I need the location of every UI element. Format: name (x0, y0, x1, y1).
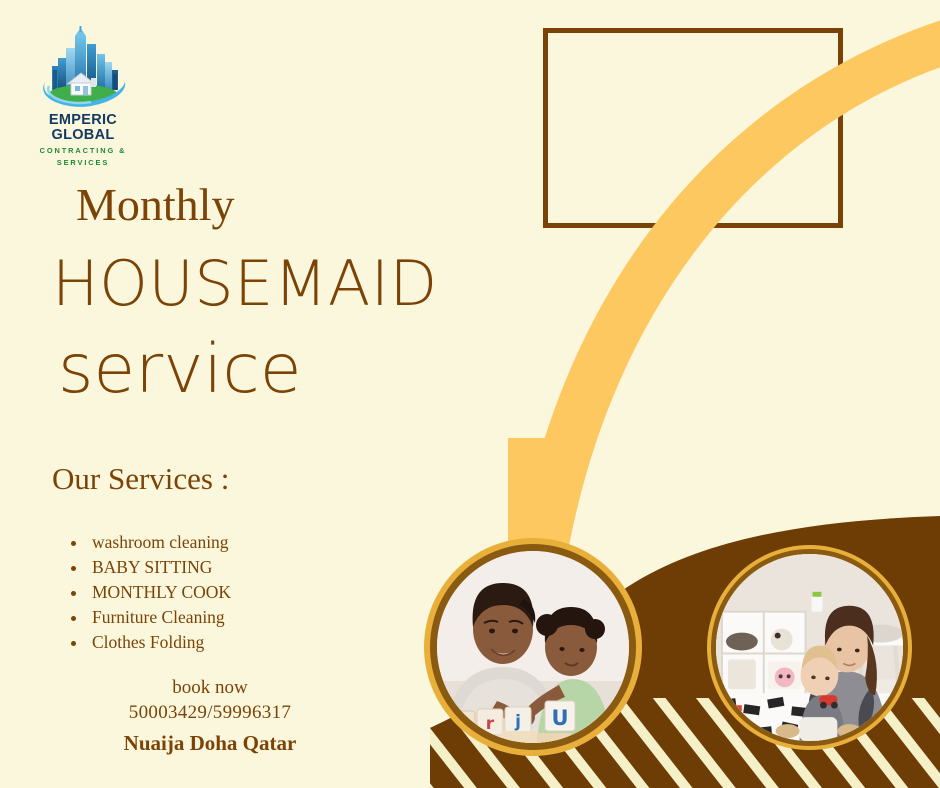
list-item: washroom cleaning (88, 530, 231, 555)
medallion-photo-childcare (707, 545, 912, 750)
svg-text:j: j (514, 712, 521, 732)
medallion-right-photo (716, 554, 903, 741)
flyer-canvas: a r j U (0, 0, 940, 788)
svg-text:r: r (486, 714, 495, 734)
services-heading: Our Services : (52, 463, 229, 494)
list-item: Clothes Folding (88, 630, 231, 655)
hero-photo (505, 0, 940, 600)
toy-shelf (722, 612, 806, 696)
list-item: Furniture Cleaning (88, 605, 231, 630)
booking-cta: book now (60, 676, 360, 700)
svg-text:a: a (456, 716, 467, 736)
location-text: Nuaija Doha Qatar (60, 728, 360, 758)
headline-eyebrow: Monthly (76, 182, 234, 228)
list-item: MONTHLY COOK (88, 580, 231, 605)
hero-photo-illustration (505, 0, 940, 600)
childcare-illustration (716, 554, 903, 741)
brand-logo: EMPERIC GLOBAL CONTRACTING & SERVICES (18, 26, 148, 168)
list-item: BABY SITTING (88, 555, 231, 580)
brand-tagline: CONTRACTING & SERVICES (18, 145, 148, 167)
brand-name: EMPERIC GLOBAL (18, 113, 148, 143)
svg-text:U: U (551, 706, 568, 730)
city-skyline-house-logo-icon (29, 26, 137, 112)
headline-main: HOUSEMAID (52, 253, 438, 315)
medallion-left-photo: a r j U (437, 551, 629, 743)
babysitting-illustration: a r j U (437, 551, 629, 743)
headline-sub: service (58, 336, 302, 404)
phone-numbers[interactable]: 50003429/59996317 (60, 700, 360, 726)
contact-block: book now 50003429/59996317 Nuaija Doha Q… (60, 676, 360, 758)
services-list: washroom cleaning BABY SITTING MONTHLY C… (66, 530, 231, 655)
medallion-photo-babysitting: a r j U (424, 538, 642, 756)
